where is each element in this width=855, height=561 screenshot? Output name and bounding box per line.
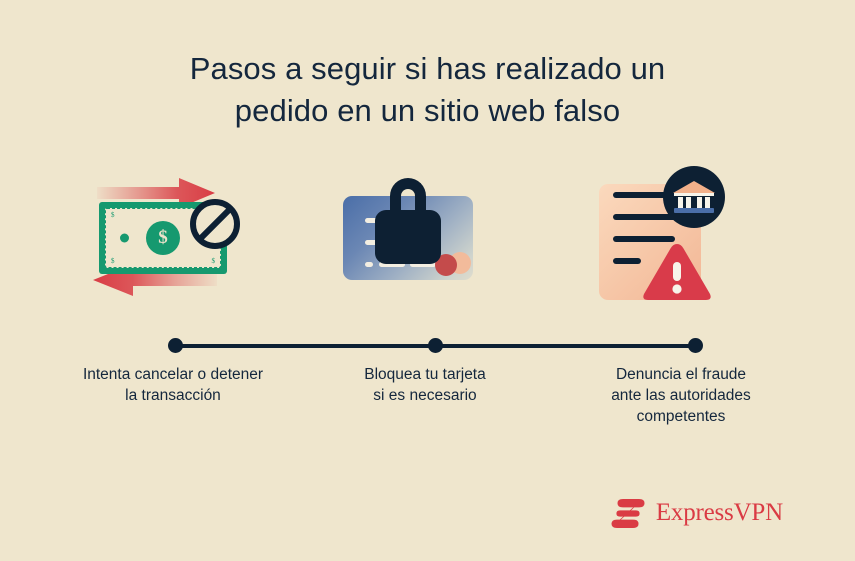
prohibited-sign-icon bbox=[189, 198, 241, 250]
step-3-caption-line-3: competentes bbox=[556, 406, 806, 427]
page-title-line-1: Pasos a seguir si has realizado un bbox=[0, 48, 855, 90]
padlock-icon bbox=[375, 178, 441, 264]
step-3-caption: Denuncia el fraude ante las autoridades … bbox=[556, 364, 806, 427]
step-3-caption-line-1: Denuncia el fraude bbox=[556, 364, 806, 385]
bill-corner-symbol: $ bbox=[212, 257, 216, 265]
timeline-dot-step-2[interactable] bbox=[428, 338, 443, 353]
padlock-body bbox=[375, 210, 441, 264]
step-2-icon-slot bbox=[305, 162, 545, 317]
page-title-line-2: pedido en un sitio web falso bbox=[0, 90, 855, 132]
step-captions-row: Intenta cancelar o detener la transacció… bbox=[0, 364, 855, 434]
bill-corner-symbol: $ bbox=[111, 257, 115, 265]
dollar-sign-icon: $ bbox=[146, 221, 180, 255]
step-1-caption-line-2: la transacción bbox=[48, 385, 298, 406]
fraud-report-authorities-icon bbox=[585, 162, 765, 317]
steps-timeline bbox=[175, 343, 696, 349]
document-text-line bbox=[613, 258, 641, 264]
bank-building-badge-icon bbox=[663, 166, 725, 228]
step-2-caption-line-1: Bloquea tu tarjeta bbox=[300, 364, 550, 385]
step-2-caption-line-2: si es necesario bbox=[300, 385, 550, 406]
infographic-canvas: Pasos a seguir si has realizado un pedid… bbox=[0, 0, 855, 561]
step-2-caption: Bloquea tu tarjeta si es necesario bbox=[300, 364, 550, 406]
step-1-icon-slot: $ $ $ $ $ bbox=[55, 162, 295, 317]
credit-card-locked-icon bbox=[335, 162, 515, 317]
card-stripe bbox=[365, 262, 373, 267]
expressvpn-logo[interactable]: ExpressVPN bbox=[611, 495, 783, 531]
page-title: Pasos a seguir si has realizado un pedid… bbox=[0, 48, 855, 132]
expressvpn-logo-mark bbox=[611, 498, 645, 529]
bill-seal-dot-left bbox=[120, 234, 129, 243]
step-icons-row: $ $ $ $ $ bbox=[0, 162, 855, 317]
expressvpn-logo-text: ExpressVPN bbox=[656, 499, 783, 527]
step-1-caption: Intenta cancelar o detener la transacció… bbox=[48, 364, 298, 406]
step-3-caption-line-2: ante las autoridades bbox=[556, 385, 806, 406]
timeline-dot-step-3[interactable] bbox=[688, 338, 703, 353]
step-3-icon-slot bbox=[555, 162, 795, 317]
bank-building-icon bbox=[672, 180, 716, 214]
warning-triangle-icon bbox=[641, 240, 713, 304]
timeline-dot-step-1[interactable] bbox=[168, 338, 183, 353]
step-1-caption-line-1: Intenta cancelar o detener bbox=[48, 364, 298, 385]
money-transaction-blocked-icon: $ $ $ $ $ bbox=[85, 162, 265, 317]
bill-corner-symbol: $ bbox=[111, 211, 115, 219]
